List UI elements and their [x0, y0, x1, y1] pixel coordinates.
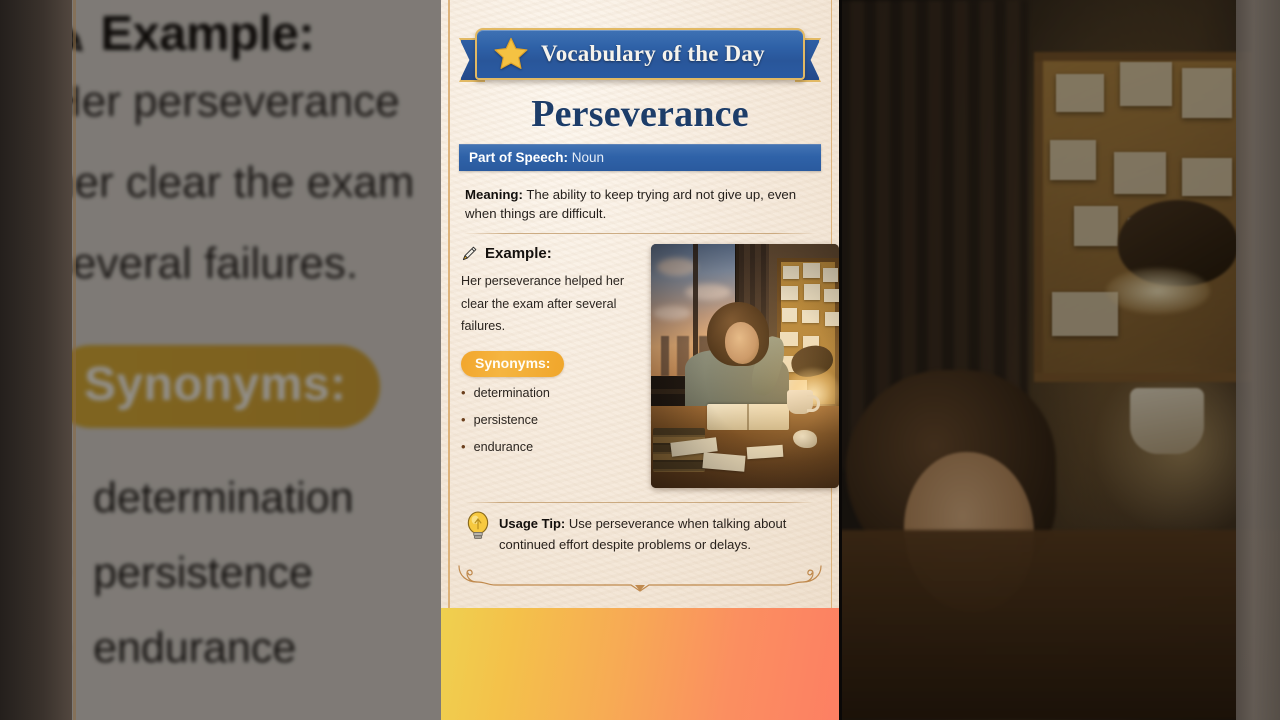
star-icon [493, 36, 529, 72]
background-example-heading: Example: [100, 7, 314, 61]
part-of-speech-label: Part of Speech: [469, 150, 568, 165]
synonym-label: determination [474, 386, 550, 400]
part-of-speech-bar: Part of Speech: Noun [459, 144, 821, 171]
divider [463, 233, 817, 234]
illustration-image [651, 244, 839, 488]
vocabulary-card: Vocabulary of the Day Perseverance Part … [441, 0, 839, 608]
usage-tip-label: Usage Tip: [499, 516, 565, 531]
synonyms-heading: Synonyms: [461, 351, 564, 377]
bottom-gradient-strip [441, 608, 839, 720]
ribbon-body: Vocabulary of the Day [475, 28, 805, 80]
background-example-line: several failures. [50, 224, 442, 305]
bullet-icon: • [461, 413, 466, 426]
usage-tip-block: Usage Tip: Use perseverance when talking… [457, 513, 823, 555]
part-of-speech-value: Noun [572, 150, 604, 165]
example-heading-row: Example: [461, 244, 639, 262]
banner-title: Vocabulary of the Day [541, 41, 765, 67]
page-title: Perseverance [457, 92, 823, 136]
background-example-line: Her perseverance [50, 62, 442, 143]
synonyms-list: • determination • persistence • enduranc… [461, 386, 639, 454]
pencil-icon [461, 244, 479, 262]
list-item: • endurance [461, 440, 639, 454]
background-left-edge [0, 0, 72, 720]
card-body-row: Example: Her perseverance helped her cle… [457, 244, 823, 488]
example-text: Her perseverance helped her clear the ex… [461, 270, 639, 337]
list-item: • determination [461, 386, 639, 400]
background-example-line: her clear the exam [50, 143, 442, 224]
background-right-strip [1236, 0, 1280, 720]
background-synonyms-heading: Synonyms: [50, 345, 380, 428]
usage-tip-text-wrap: Usage Tip: Use perseverance when talking… [499, 513, 815, 555]
background-right-dim-overlay [838, 0, 1280, 720]
background-synonym-item: determination [56, 474, 442, 523]
lightbulb-icon [465, 511, 491, 541]
background-synonym-item: persistence [56, 549, 442, 598]
example-heading: Example: [485, 245, 552, 262]
divider [465, 502, 815, 503]
flourish-ornament [455, 562, 825, 596]
background-synonym-item: endurance [56, 624, 442, 673]
meaning-label: Meaning: [465, 187, 523, 202]
meaning-block: Meaning: The ability to keep trying ard … [457, 181, 823, 233]
example-column: Example: Her perseverance helped her cle… [461, 244, 639, 488]
illustration-vignette [651, 244, 839, 488]
synonym-label: endurance [474, 440, 534, 454]
bottom-flourish [455, 562, 825, 596]
card-banner: Vocabulary of the Day [457, 28, 823, 86]
list-item: • persistence [461, 413, 639, 427]
bullet-icon: • [461, 440, 466, 453]
background-left-blurred-card: ✎Example: Her perseverance her clear the… [0, 0, 442, 720]
background-right-blurred-illustration [838, 0, 1280, 720]
bullet-icon: • [461, 386, 466, 399]
synonym-label: persistence [474, 413, 538, 427]
background-left-rule [73, 0, 76, 720]
background-example-heading-row: ✎Example: [50, 6, 442, 62]
